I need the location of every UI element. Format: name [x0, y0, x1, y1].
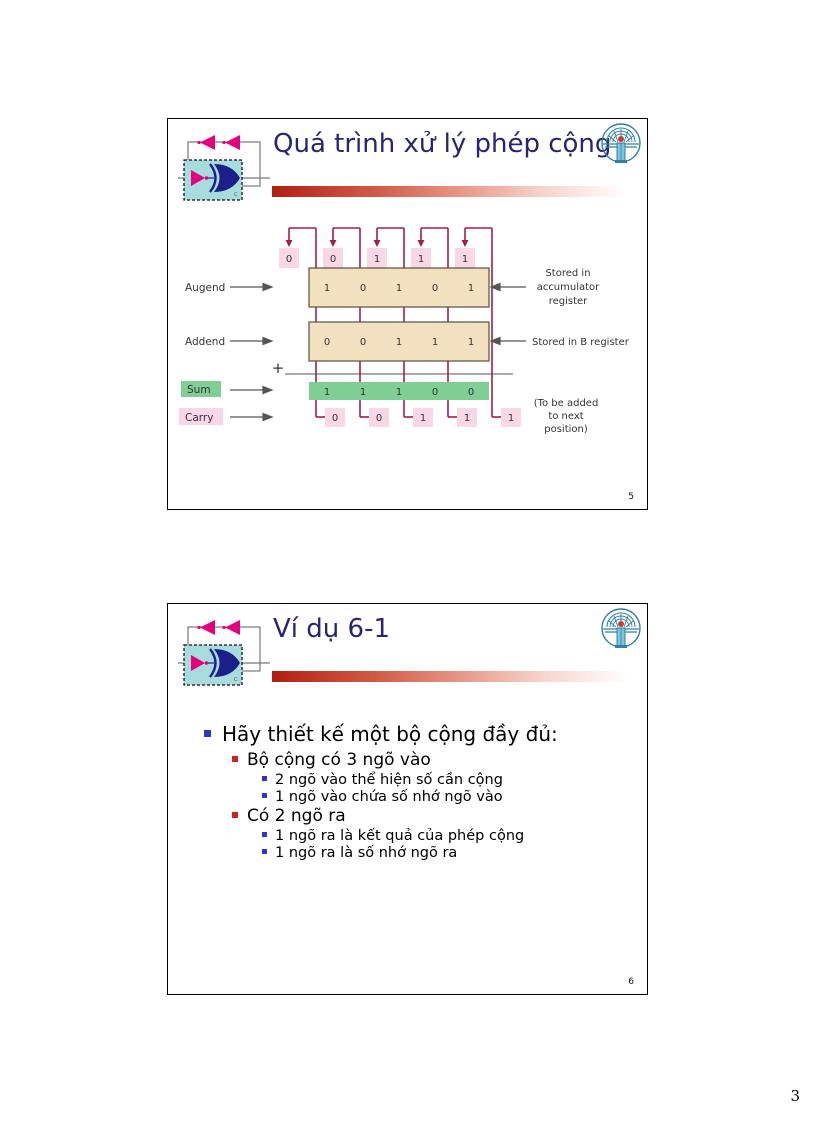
slide-2-header: C Ví dụ 6-1	[168, 604, 647, 694]
svg-text:0: 0	[376, 413, 382, 424]
svg-text:1: 1	[468, 337, 474, 348]
svg-text:Stored in B register: Stored in B register	[532, 337, 630, 348]
svg-text:1: 1	[396, 283, 402, 294]
svg-text:1: 1	[324, 387, 330, 398]
list-item: Hãy thiết kế một bộ cộng đầy đủ:	[204, 722, 630, 746]
svg-text:0: 0	[432, 387, 438, 398]
document-page-number: 3	[790, 1087, 800, 1105]
university-seal-logo	[599, 607, 643, 653]
slide-page-number: 6	[628, 977, 634, 987]
svg-text:1: 1	[464, 413, 470, 424]
slide-page-number: 5	[628, 492, 634, 502]
svg-text:1: 1	[468, 283, 474, 294]
logic-gate-logo: C	[178, 133, 270, 205]
slide-title: Quá trình xử lý phép cộng	[273, 129, 611, 159]
svg-text:Stored in: Stored in	[545, 268, 590, 279]
slide-example-6-1: C Ví dụ 6-1	[167, 603, 648, 995]
bullet-marker-icon	[262, 832, 267, 837]
svg-text:to next: to next	[548, 411, 583, 422]
svg-text:register: register	[549, 296, 588, 307]
svg-text:1: 1	[396, 337, 402, 348]
list-item: 1 ngõ ra là số nhớ ngõ ra	[262, 845, 630, 861]
list-item: Bộ cộng có 3 ngõ vào	[232, 750, 630, 770]
svg-text:1: 1	[462, 254, 468, 265]
svg-text:1: 1	[420, 413, 426, 424]
svg-text:1: 1	[418, 254, 424, 265]
list-item-label: 2 ngõ vào thể hiện số cần cộng	[275, 772, 503, 788]
svg-text:accumulator: accumulator	[537, 282, 600, 293]
slide-1-header: C Quá trình xử lý phép cộng	[168, 119, 647, 209]
list-item: Có 2 ngõ ra	[232, 806, 630, 826]
list-item: 1 ngõ vào chứa số nhớ ngõ vào	[262, 789, 630, 805]
bullet-marker-icon	[204, 730, 211, 737]
university-seal-logo	[599, 122, 643, 168]
svg-text:0: 0	[332, 413, 338, 424]
bullet-marker-icon	[262, 793, 267, 798]
svg-text:1: 1	[374, 254, 380, 265]
list-item: 2 ngõ vào thể hiện số cần cộng	[262, 772, 630, 788]
svg-text:C: C	[234, 677, 238, 683]
list-item-label: Có 2 ngõ ra	[247, 806, 346, 826]
svg-text:C: C	[234, 192, 238, 198]
svg-text:(To be added: (To be added	[534, 398, 599, 409]
slide-title: Ví dụ 6-1	[273, 614, 390, 644]
svg-text:1: 1	[508, 413, 514, 424]
bullet-list: Hãy thiết kế một bộ cộng đầy đủ: Bộ cộng…	[190, 722, 630, 862]
svg-text:+: +	[272, 359, 285, 377]
logic-gate-logo: C	[178, 618, 270, 690]
svg-text:position): position)	[544, 424, 588, 435]
svg-text:Augend: Augend	[185, 282, 225, 294]
svg-text:0: 0	[324, 337, 330, 348]
svg-text:0: 0	[286, 254, 292, 265]
list-item-label: Hãy thiết kế một bộ cộng đầy đủ:	[222, 722, 558, 746]
svg-text:0: 0	[330, 254, 336, 265]
bullet-marker-icon	[232, 756, 238, 762]
list-item-label: 1 ngõ ra là kết quả của phép cộng	[275, 828, 524, 844]
svg-text:1: 1	[360, 387, 366, 398]
list-item-label: 1 ngõ ra là số nhớ ngõ ra	[275, 845, 457, 861]
svg-text:1: 1	[432, 337, 438, 348]
bullet-marker-icon	[262, 776, 267, 781]
title-gradient-bar	[272, 186, 646, 197]
svg-text:0: 0	[360, 283, 366, 294]
list-item: 1 ngõ ra là kết quả của phép cộng	[262, 828, 630, 844]
svg-text:1: 1	[324, 283, 330, 294]
list-item-label: 1 ngõ vào chứa số nhớ ngõ vào	[275, 789, 503, 805]
svg-text:Carry: Carry	[185, 412, 213, 424]
bullet-marker-icon	[232, 812, 238, 818]
binary-addition-diagram: 0 0 1 1 1 1 0 1 0 1 0 0 1 1 1	[168, 214, 649, 464]
slide-binary-addition: C Quá trình xử lý phép cộng	[167, 118, 648, 510]
title-gradient-bar	[272, 671, 646, 682]
svg-text:Addend: Addend	[185, 336, 225, 348]
svg-text:0: 0	[468, 387, 474, 398]
svg-text:Sum: Sum	[187, 384, 211, 396]
bullet-marker-icon	[262, 849, 267, 854]
svg-text:0: 0	[360, 337, 366, 348]
svg-text:1: 1	[396, 387, 402, 398]
list-item-label: Bộ cộng có 3 ngõ vào	[247, 750, 431, 770]
svg-text:0: 0	[432, 283, 438, 294]
